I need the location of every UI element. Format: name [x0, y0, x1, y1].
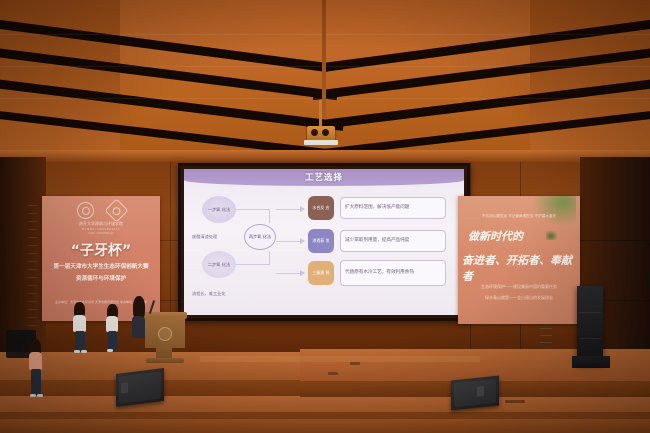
bird-decoration-icon — [546, 230, 558, 240]
stage-floor-port-2 — [328, 372, 338, 375]
banner-left-subtitle-2: 资源循环与环境保护 — [42, 274, 160, 282]
banner-left-logos — [42, 202, 160, 219]
slide-node-one-step: 一步氧 化法 — [202, 196, 236, 223]
stage-floor-port-1 — [350, 362, 360, 365]
auditorium-photo: 工艺选择 一步氧 化法 两步氧 化法 二步氧 化法 废酸 — [0, 0, 650, 433]
banner-left-subtitle-1: 第一届天津市大学生生态环保创新大赛 — [42, 262, 160, 270]
university-seal-icon — [77, 202, 94, 219]
slide-benefit-1: 扩大原料范围，解决低产能问题 — [340, 197, 446, 219]
projection-screen: 工艺选择 一步氧 化法 两步氧 化法 二步氧 化法 废酸 — [178, 163, 470, 321]
banner-right-top-line: 不忘初心跟党走 牢记使命勇担当 守护碧水蓝天 — [458, 214, 580, 219]
speaker-tower-base — [572, 356, 610, 368]
wall-valance — [0, 150, 650, 162]
hall-floor — [0, 419, 650, 433]
slide-node-two-step-primary: 两步氧 化法 — [244, 224, 276, 250]
slide-side-label-2: 流程长，难工业化 — [192, 291, 226, 297]
slide-benefit-2: 减少萃取剂用量，提高产品纯度 — [340, 230, 446, 252]
slide-title: 工艺选择 — [184, 171, 464, 183]
slide-side-label-1: 废酸清渣处理 — [192, 234, 217, 240]
slide-benefit-3: 代替原有水冷工艺，有效利用余热 — [340, 260, 446, 286]
competition-logo-icon — [104, 198, 128, 222]
stage-floor-port-3 — [505, 400, 525, 403]
banner-left-title: “子牙杯” — [42, 240, 160, 260]
wall-left-shadow — [0, 157, 46, 357]
slide-stage-box-hydration: 水合反 应 — [308, 196, 334, 220]
banner-left-university-en: NANKAI UNIVERSITY — [42, 227, 160, 231]
slide-stage-box-heat-exchange: 三级换 热 — [308, 261, 334, 285]
slide-stage-box-pervaporation: 渗透蒸 发 — [308, 229, 334, 253]
stage-step — [0, 396, 650, 413]
presentation-slide: 工艺选择 一步氧 化法 两步氧 化法 二步氧 化法 废酸 — [184, 169, 464, 315]
stage-monitor-left — [116, 368, 164, 407]
banner-right-footer-1: 生态环境保护——建设美丽中国的重要任务 — [458, 284, 580, 290]
ceiling-ridge — [322, 0, 326, 118]
banner-right-line-2: 奋进者、开拓者、奉献者 — [462, 252, 580, 284]
banner-right: 不忘初心跟党走 牢记使命勇担当 守护碧水蓝天 做新时代的 奋进者、开拓者、奉献者… — [458, 196, 580, 324]
line-array-speaker-tower — [577, 286, 603, 364]
projector-lens-secondary-icon — [322, 129, 329, 136]
stage-monitor-right — [451, 375, 499, 410]
projector-bracket — [304, 140, 338, 145]
banner-right-footer-2: 绿水青山就是——金山银山的发展理念 — [458, 295, 580, 301]
banner-left-anniversary: 100th ANNIVERSARY — [42, 232, 160, 235]
projector-lens-icon — [311, 129, 318, 136]
leaf-decoration-icon — [530, 196, 576, 228]
lectern-crest-icon — [158, 327, 172, 341]
slide-node-two-step: 二步氧 化法 — [202, 251, 236, 278]
lectern-base — [146, 358, 184, 363]
banner-right-line-1: 做新时代的 — [468, 228, 523, 244]
projector-mount-pole — [319, 100, 322, 128]
